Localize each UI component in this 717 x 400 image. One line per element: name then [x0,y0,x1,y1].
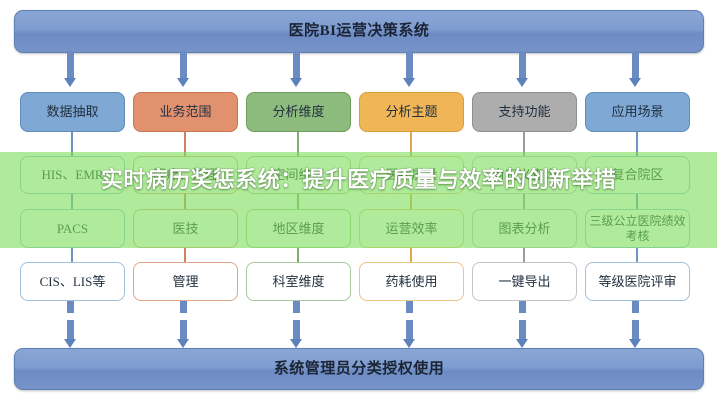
arrow-bottom-col-4 [403,320,416,348]
arrow-bottom-col-3 [290,320,303,348]
category-label-analysis-dimension: 分析维度 [272,104,324,119]
arrow-bottom-col-1 [64,320,77,348]
category-box-application-scene[interactable]: 应用场景 [585,92,690,132]
connector-col-1-r3r4 [71,194,73,209]
arrow-top-col-4 [403,51,416,87]
item-label-col-4-row-2: 运营效率 [385,221,437,236]
connector-col-6-r4r5 [636,248,638,262]
item-label-col-6-row-2: 三级公立医院绩效考核 [589,214,686,242]
connector-col-3-r4r5 [297,248,299,262]
category-label-business-scope: 业务范围 [159,104,211,119]
bottom-banner-label: 系统管理员分类授权使用 [274,362,445,377]
category-label-application-scene: 应用场景 [611,104,663,119]
category-box-analysis-topic[interactable]: 分析主题 [359,92,464,132]
item-box-col-6-row-3[interactable]: 等级医院评审 [585,262,690,301]
item-label-col-5-row-2: 图表分析 [498,221,550,236]
connector-col-3-r2r3 [297,132,299,156]
connector-col-1-r4r5 [71,248,73,262]
item-label-col-1-row-3: CIS、LIS等 [40,274,106,289]
connector-col-6-r2r3 [636,132,638,156]
item-label-col-3-row-2: 地区维度 [272,221,324,236]
item-label-col-2-row-2: 医技 [172,221,198,236]
connector-col-4-r4r5 [410,248,412,262]
arrow-bottom-col-6 [629,320,642,348]
category-label-data-extraction: 数据抽取 [46,104,98,119]
category-label-analysis-topic: 分析主题 [385,104,437,119]
connector-stub-col-1 [67,301,74,313]
connector-col-2-r2r3 [184,132,186,156]
category-box-support-function[interactable]: 支持功能 [472,92,577,132]
connector-col-4-r2r3 [410,132,412,156]
item-box-col-5-row-2[interactable]: 图表分析 [472,209,577,248]
item-box-col-2-row-2[interactable]: 医技 [133,209,238,248]
arrow-top-col-6 [629,51,642,87]
item-box-col-4-row-3[interactable]: 药耗使用 [359,262,464,301]
bottom-banner: 系统管理员分类授权使用 [14,348,704,390]
connector-col-5-r4r5 [523,248,525,262]
overlay-headline: 实时病历奖惩系统：提升医疗质量与效率的创新举措 [0,166,717,196]
connector-col-6-r3r4 [636,194,638,209]
connector-stub-col-3 [293,301,300,313]
connector-col-3-r3r4 [297,194,299,209]
item-label-col-5-row-3: 一键导出 [498,274,550,289]
item-label-col-3-row-3: 科室维度 [272,274,324,289]
connector-stub-col-6 [632,301,639,313]
category-label-support-function: 支持功能 [498,104,550,119]
arrow-top-col-5 [516,51,529,87]
item-box-col-1-row-2[interactable]: PACS [20,209,125,248]
item-label-col-6-row-3: 等级医院评审 [598,274,676,289]
item-box-col-3-row-3[interactable]: 科室维度 [246,262,351,301]
item-box-col-4-row-2[interactable]: 运营效率 [359,209,464,248]
item-label-col-2-row-3: 管理 [172,274,198,289]
connector-col-2-r4r5 [184,248,186,262]
connector-stub-col-5 [519,301,526,313]
arrow-top-col-2 [177,51,190,87]
category-box-analysis-dimension[interactable]: 分析维度 [246,92,351,132]
connector-col-2-r3r4 [184,194,186,209]
connector-col-1-r2r3 [71,132,73,156]
category-box-business-scope[interactable]: 业务范围 [133,92,238,132]
connector-stub-col-4 [406,301,413,313]
connector-col-4-r3r4 [410,194,412,209]
top-banner: 医院BI运营决策系统 [14,10,704,53]
item-box-col-1-row-3[interactable]: CIS、LIS等 [20,262,125,301]
diagram-canvas: 医院BI运营决策系统 数据抽取 业务范围 分析维度 分析主题 支持功能 应用场景… [0,0,717,400]
top-banner-label: 医院BI运营决策系统 [289,24,430,39]
connector-col-5-r2r3 [523,132,525,156]
item-label-col-1-row-2: PACS [57,221,88,236]
arrow-bottom-col-5 [516,320,529,348]
category-box-data-extraction[interactable]: 数据抽取 [20,92,125,132]
connector-col-5-r3r4 [523,194,525,209]
connector-stub-col-2 [180,301,187,313]
arrow-top-col-1 [64,51,77,87]
arrow-bottom-col-2 [177,320,190,348]
item-box-col-3-row-2[interactable]: 地区维度 [246,209,351,248]
item-box-col-2-row-3[interactable]: 管理 [133,262,238,301]
item-box-col-5-row-3[interactable]: 一键导出 [472,262,577,301]
item-label-col-4-row-3: 药耗使用 [385,274,437,289]
item-box-col-6-row-2[interactable]: 三级公立医院绩效考核 [585,209,690,248]
arrow-top-col-3 [290,51,303,87]
